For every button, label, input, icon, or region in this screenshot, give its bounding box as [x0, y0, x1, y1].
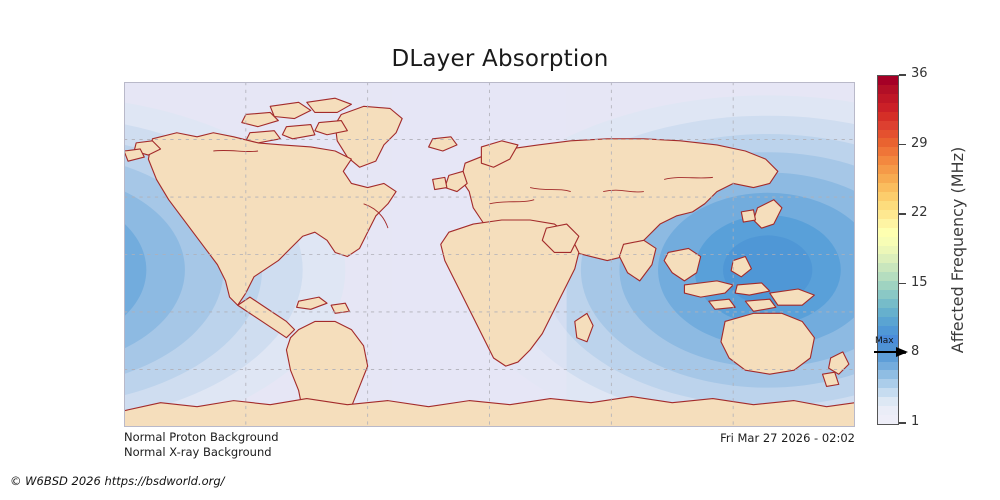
colorbar-axis-label: Affected Frequency (MHz) — [928, 75, 952, 425]
colorbar-tick-label: 1 — [911, 414, 919, 429]
colorbar-segment — [878, 344, 898, 353]
colorbar-segment — [878, 397, 898, 406]
colorbar-segment — [878, 237, 898, 246]
colorbar-segment — [878, 165, 898, 174]
colorbar-tick-label: 29 — [911, 136, 928, 151]
colorbar-segment — [878, 317, 898, 326]
colorbar-segment — [878, 156, 898, 165]
colorbar-tick-mark — [899, 144, 906, 146]
colorbar-tick-mark — [899, 422, 906, 424]
colorbar-segment — [878, 370, 898, 379]
dlayer-absorption-figure: DLayer Absorption — [0, 0, 1000, 500]
world-map[interactable] — [124, 82, 855, 427]
colorbar-tick-label: 15 — [911, 275, 928, 290]
colorbar-segment — [878, 174, 898, 183]
colorbar-segment — [878, 210, 898, 219]
timestamp: Fri Mar 27 2026 - 02:02 — [455, 431, 855, 445]
colorbar-tick-label: 22 — [911, 205, 928, 220]
colorbar-tick-mark — [899, 352, 906, 354]
colorbar-segment — [878, 415, 898, 424]
colorbar-segment — [878, 130, 898, 139]
colorbar-segment — [878, 272, 898, 281]
colorbar-segment — [878, 299, 898, 308]
colorbar-segment — [878, 246, 898, 255]
colorbar-segment — [878, 201, 898, 210]
status-proton-background: Normal Proton Background — [124, 430, 279, 445]
colorbar-segment — [878, 138, 898, 147]
status-xray-background: Normal X-ray Background — [124, 445, 279, 460]
colorbar-segment — [878, 147, 898, 156]
colorbar-segment — [878, 183, 898, 192]
colorbar-segment — [878, 121, 898, 130]
colorbar-segment — [878, 406, 898, 415]
colorbar-segment — [878, 219, 898, 228]
colorbar-segment — [878, 263, 898, 272]
colorbar-segment — [878, 192, 898, 201]
colorbar-segment — [878, 85, 898, 94]
colorbar-segment — [878, 94, 898, 103]
colorbar-tick-label: 8 — [911, 344, 919, 359]
colorbar-segment — [878, 335, 898, 344]
colorbar-segment — [878, 103, 898, 112]
colorbar-segment — [878, 76, 898, 85]
colorbar-segment — [878, 388, 898, 397]
colorbar-tick-label: 36 — [911, 66, 928, 81]
colorbar-tick-mark — [899, 213, 906, 215]
colorbar[interactable] — [877, 75, 899, 425]
colorbar-segment — [878, 326, 898, 335]
map-canvas — [124, 82, 855, 427]
colorbar-segment — [878, 112, 898, 121]
colorbar-segment — [878, 353, 898, 362]
colorbar-tick-mark — [899, 283, 906, 285]
page-title: DLayer Absorption — [0, 46, 1000, 72]
colorbar-tick-mark — [899, 74, 906, 76]
colorbar-segment — [878, 254, 898, 263]
colorbar-segment — [878, 290, 898, 299]
colorbar-axis-label-text: Affected Frequency (MHz) — [948, 75, 967, 425]
status-notes: Normal Proton Background Normal X-ray Ba… — [124, 430, 279, 460]
colorbar-segment — [878, 379, 898, 388]
colorbar-segment — [878, 308, 898, 317]
colorbar-segment — [878, 362, 898, 371]
colorbar-segment — [878, 281, 898, 290]
footer-credit: © W6BSD 2026 https://bsdworld.org/ — [10, 474, 225, 488]
colorbar-segment — [878, 228, 898, 237]
